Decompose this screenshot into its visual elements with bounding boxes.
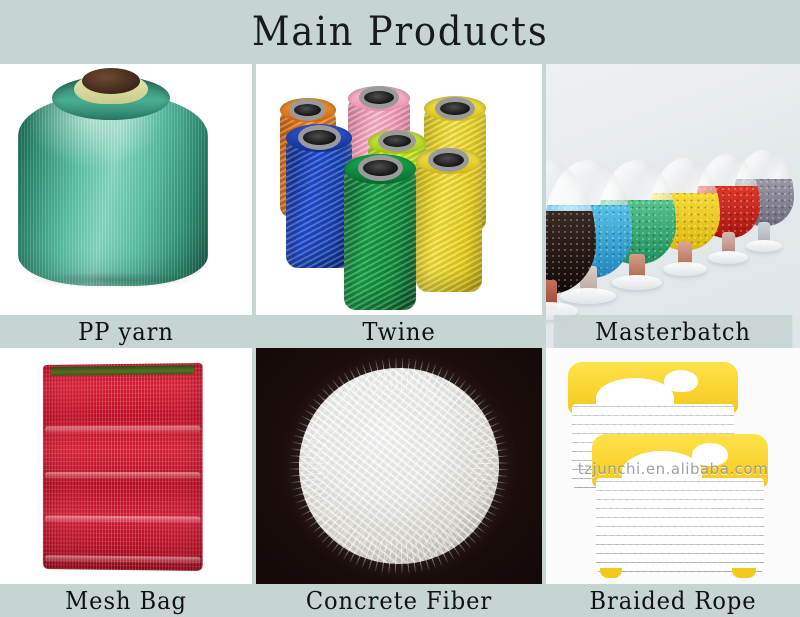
- page-title: Main Products: [252, 12, 549, 52]
- mesh-bag-fold-2: [45, 472, 201, 479]
- product-cell-braided-rope[interactable]: tzjunchi.en.alibaba.com Braided Rope: [546, 348, 800, 617]
- braided-rope-scene: tzjunchi.en.alibaba.com: [546, 348, 800, 584]
- twine-spool-green-hole: [363, 160, 398, 176]
- twine-spool-pink-hole: [364, 91, 394, 104]
- mesh-bag-top-seam: [51, 365, 195, 376]
- product-image-mesh-bag: [0, 348, 252, 584]
- product-image-masterbatch: [546, 64, 800, 348]
- alibaba-watermark: tzjunchi.en.alibaba.com: [546, 460, 800, 478]
- product-image-pp-yarn: [0, 64, 252, 315]
- mesh-bag-scene: [0, 348, 252, 584]
- yarn-core-tube: [82, 68, 140, 94]
- product-cell-concrete-fiber[interactable]: Concrete Fiber: [256, 348, 542, 617]
- product-row-2: Mesh Bag Concrete Fiber: [0, 348, 800, 617]
- concrete-fiber-scene: [256, 348, 542, 584]
- fiber-tufts: [289, 358, 509, 574]
- yarn-striation: [18, 94, 208, 286]
- product-image-twine: [256, 64, 542, 315]
- twine-spool-chartreuse-hole: [383, 135, 411, 147]
- goblet-gray-foot: [746, 240, 782, 252]
- mesh-bag-fold-1: [45, 426, 201, 434]
- masterbatch-scene: [546, 64, 800, 348]
- goblet-yellow-foot: [663, 262, 707, 276]
- rope-foot-left: [600, 568, 622, 578]
- rope-foot-right: [732, 568, 756, 578]
- rope-card-hole-upper: [664, 370, 698, 392]
- product-image-concrete-fiber: [256, 348, 542, 584]
- mesh-bag-body: [43, 363, 203, 571]
- product-grid: PP yarn: [0, 64, 800, 617]
- product-image-braided-rope: tzjunchi.en.alibaba.com: [546, 348, 800, 584]
- mesh-weave-texture: [43, 363, 203, 571]
- product-label-masterbatch: Masterbatch: [554, 315, 793, 348]
- rope-coil-lower: [596, 478, 764, 572]
- yarn-cone-body: [18, 94, 208, 286]
- rope-pack-lower: [592, 434, 768, 576]
- product-label-twine: Twine: [265, 315, 534, 348]
- fiber-ball: [299, 368, 499, 564]
- product-label-concrete-fiber: Concrete Fiber: [265, 584, 534, 617]
- twine-spool-yellow-front: [416, 160, 482, 292]
- goblet-black-bowl: [546, 160, 596, 294]
- product-row-1: PP yarn: [0, 64, 800, 348]
- product-cell-twine[interactable]: Twine: [256, 64, 542, 348]
- twine-spool-yellow-front-hole: [433, 153, 464, 167]
- product-cell-pp-yarn[interactable]: PP yarn: [0, 64, 252, 348]
- product-cell-mesh-bag[interactable]: Mesh Bag: [0, 348, 252, 617]
- product-label-pp-yarn: PP yarn: [8, 315, 245, 348]
- twine-spool-yellow-back-hole: [440, 102, 470, 115]
- main-products-poster: Main Products PP yarn: [0, 0, 800, 617]
- product-label-braided-rope: Braided Rope: [554, 584, 793, 617]
- product-label-mesh-bag: Mesh Bag: [8, 584, 245, 617]
- twine-spool-blue: [286, 138, 352, 268]
- product-cell-masterbatch[interactable]: Masterbatch: [546, 64, 800, 348]
- twine-scene: [256, 64, 542, 315]
- twine-spool-green: [344, 168, 416, 310]
- mesh-bag-fold-3: [45, 516, 201, 524]
- poster-header: Main Products: [0, 0, 800, 64]
- twine-spool-orange-hole: [294, 104, 321, 116]
- twine-spool-blue-hole: [303, 130, 336, 145]
- yarn-shadow: [26, 272, 198, 288]
- goblet-red-foot: [708, 251, 748, 264]
- yarn-scene: [0, 64, 252, 315]
